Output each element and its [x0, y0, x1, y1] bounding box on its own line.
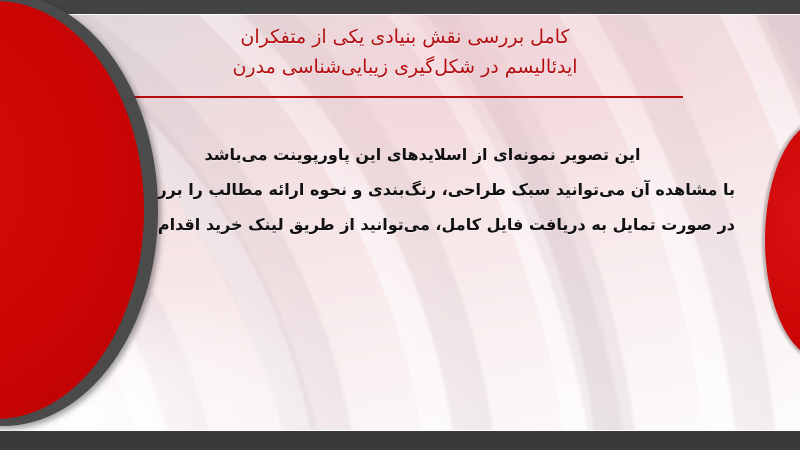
slide-content-panel: کامل بررسی نقش بنیادی یکی از متفکران اید… [0, 14, 800, 431]
body-line-3: در صورت تمایل به دریافت فایل کامل، می‌تو… [110, 207, 735, 242]
body-line-2: با مشاهده آن می‌توانید سبک طراحی، رنگ‌بن… [110, 172, 735, 207]
slide-body-text: این تصویر نمونه‌ای از اسلایدهای این پاور… [110, 137, 735, 242]
title-underline-rule [132, 96, 683, 98]
slide-title: کامل بررسی نقش بنیادی یکی از متفکران اید… [120, 22, 690, 82]
presentation-slide: کامل بررسی نقش بنیادی یکی از متفکران اید… [0, 0, 800, 450]
title-line-1: کامل بررسی نقش بنیادی یکی از متفکران [120, 22, 690, 52]
title-line-2: ایدئالیسم در شکل‌گیری زیبایی‌شناسی مدرن [120, 52, 690, 82]
body-line-1: این تصویر نمونه‌ای از اسلایدهای این پاور… [110, 137, 735, 172]
